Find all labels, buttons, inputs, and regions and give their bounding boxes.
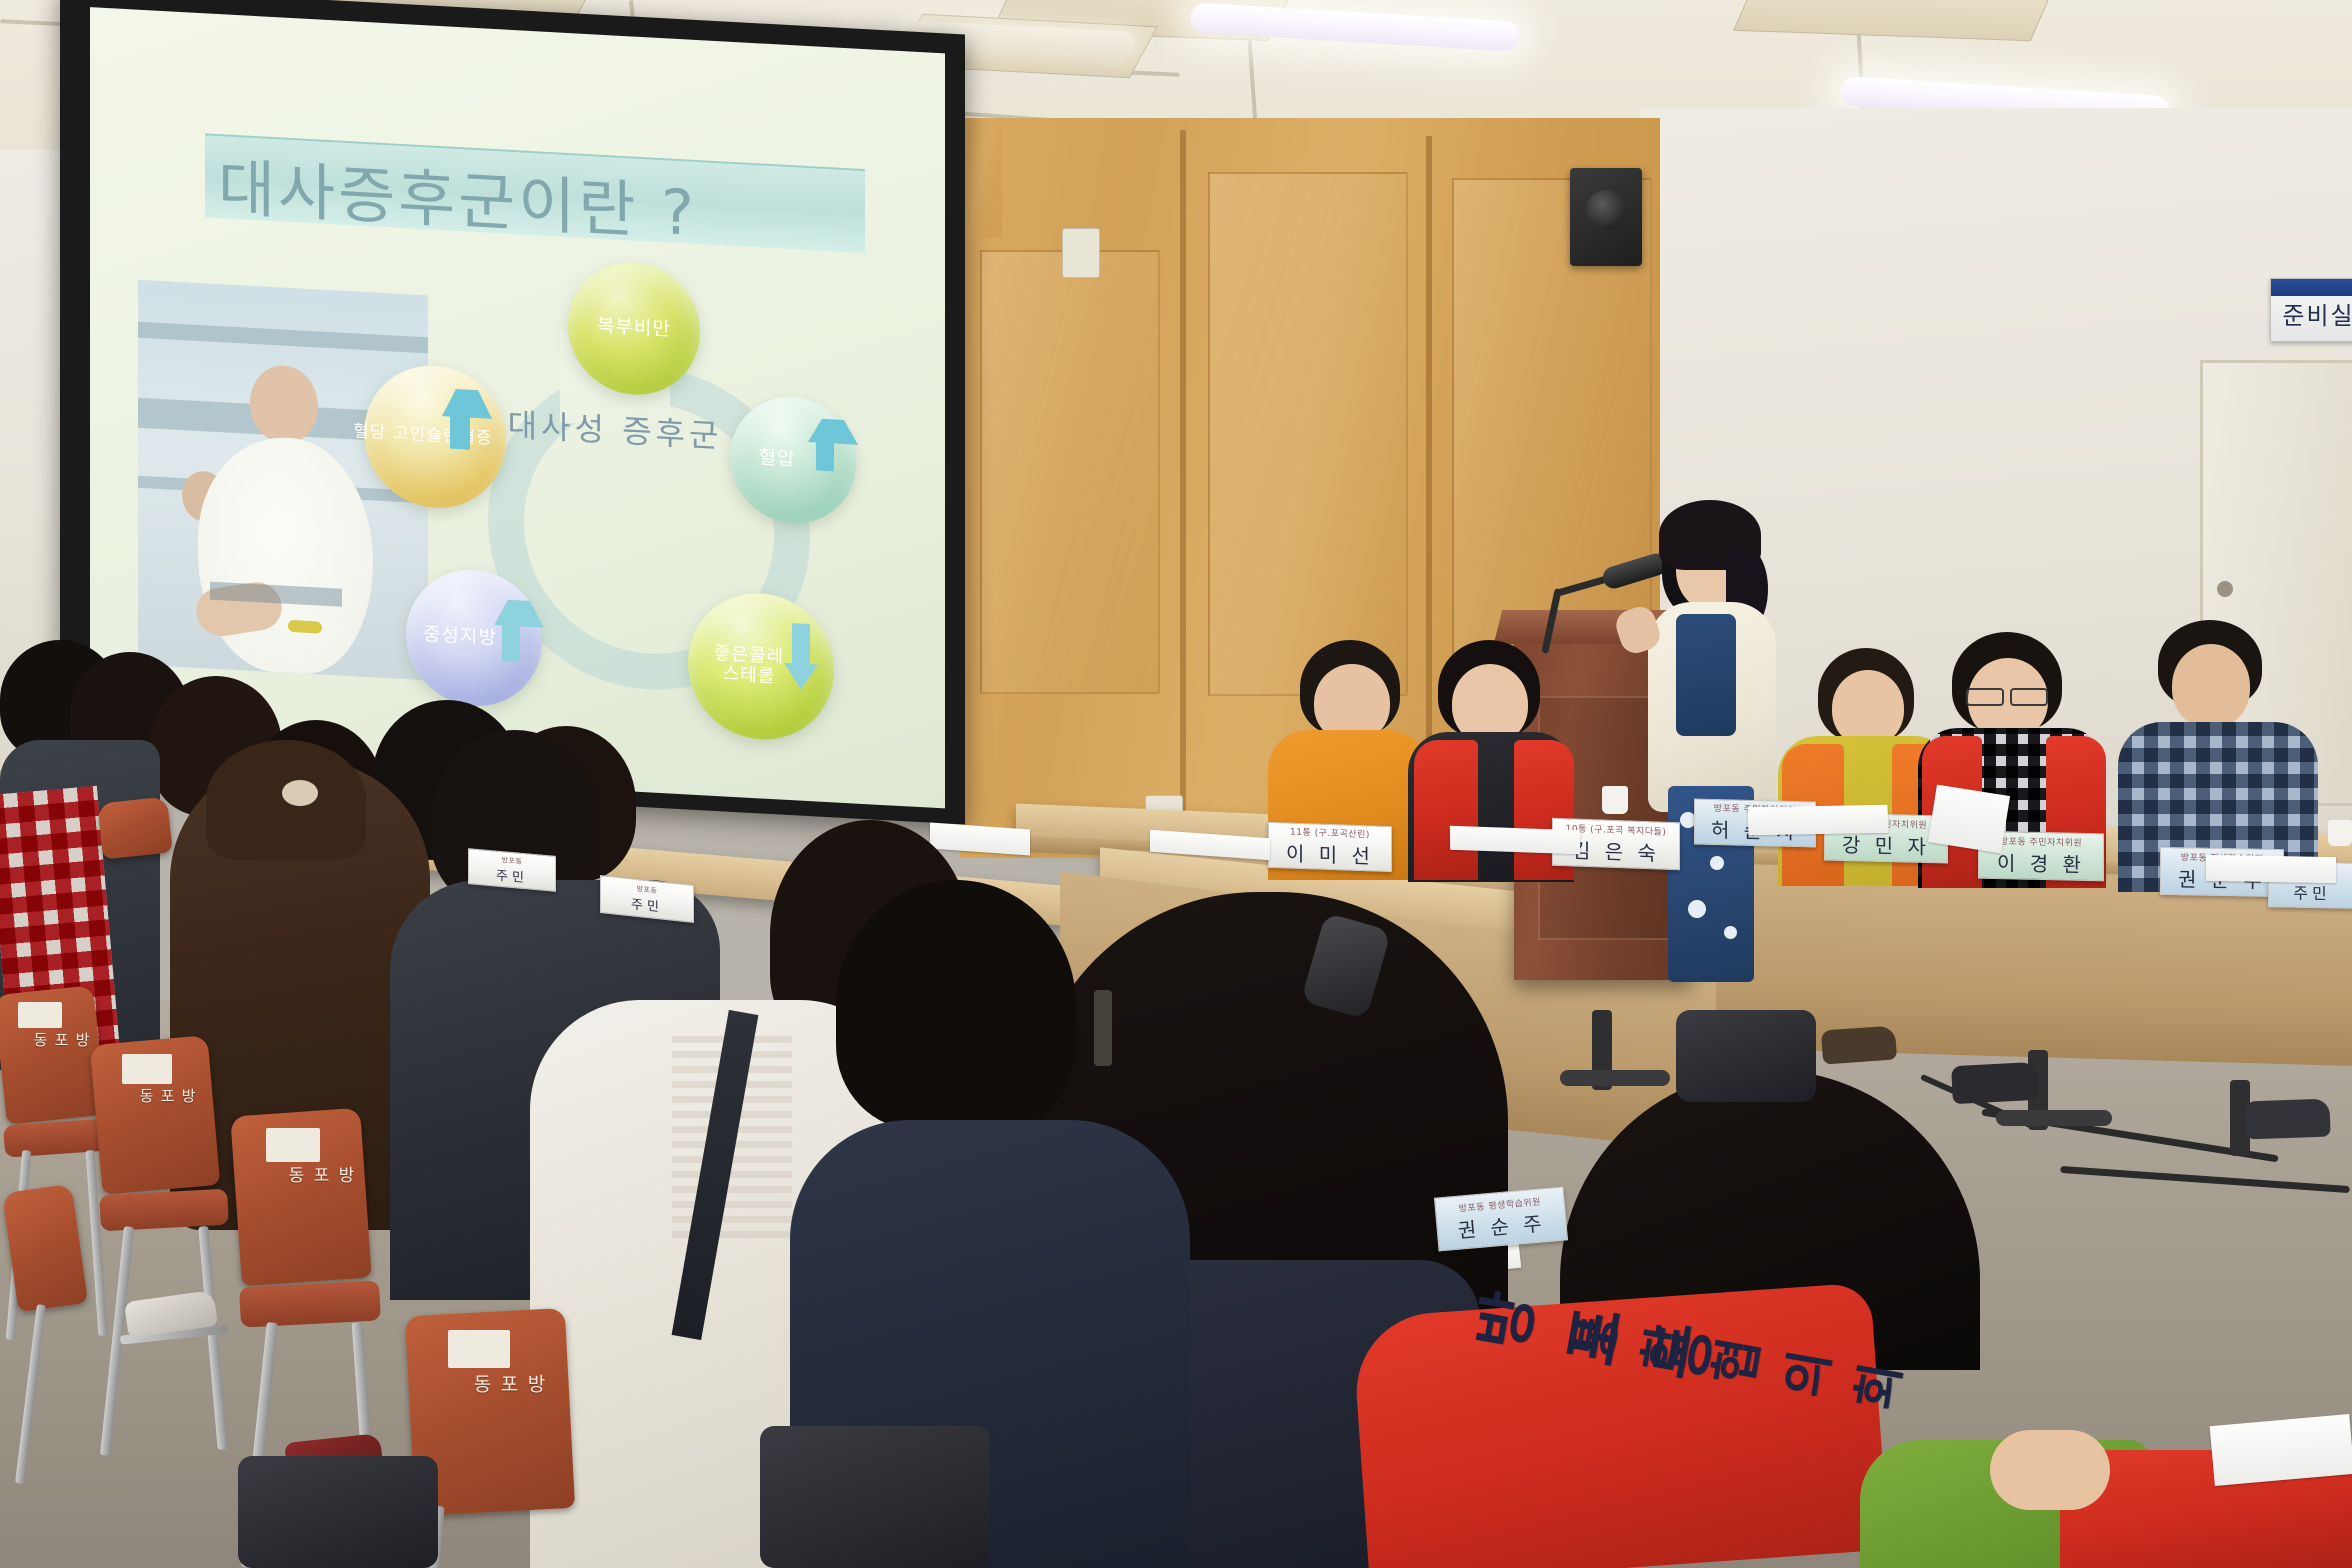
hand <box>1990 1430 2110 1510</box>
nameplate-lee-miseon: 11통 (구.포곡산린) 이 미 선 <box>1268 822 1392 872</box>
shoe <box>1821 1025 1897 1064</box>
bag <box>238 1456 438 1568</box>
paper-cup <box>1602 786 1628 814</box>
nameplate-kwon-sunju: 방포동 평생학습위원 권 순 주 <box>1434 1186 1568 1251</box>
paper-held <box>1928 785 2010 854</box>
presenter-dress-top <box>1676 614 1736 736</box>
slide-title: 대사증후군이란 ? <box>218 137 868 262</box>
wall-speaker <box>1570 168 1642 266</box>
glasses-icon <box>2010 688 2048 706</box>
arrow-up-shaft <box>502 623 520 662</box>
bubble-label: 혈당 고인슐린혈증 <box>353 423 493 450</box>
hair-tie <box>282 780 318 806</box>
bubble-label: 중성지방 <box>423 625 497 650</box>
bag-under-table <box>1676 1010 1816 1102</box>
room-sign: 준비실 <box>2270 278 2352 342</box>
wood-seam <box>1426 136 1432 836</box>
paper-document <box>2206 855 2336 883</box>
table-foot <box>1996 1110 2112 1126</box>
room-sign-strip <box>2271 279 2352 296</box>
slide-photo-person-body <box>198 433 373 677</box>
bag <box>760 1426 990 1568</box>
paper-document <box>1450 826 1580 855</box>
paper-foreground-right <box>2210 1414 2352 1486</box>
bubble-label: 혈압 <box>759 448 796 471</box>
shoe <box>1951 1062 2039 1104</box>
arrow-up-shaft <box>450 415 470 450</box>
bubble-label: 좋은콜레 스테롤 <box>714 644 784 688</box>
wood-wall-trim <box>960 118 1002 238</box>
table-foot <box>1560 1070 1670 1086</box>
bubble-label: 복부비만 <box>597 316 671 341</box>
arrow-up-shaft <box>816 440 834 471</box>
wall-outlet <box>1062 228 1100 278</box>
paper-document <box>1748 805 1889 835</box>
arrow-down-icon <box>784 663 818 691</box>
door-knob-icon[interactable] <box>2217 581 2233 597</box>
arrow-down-shaft <box>792 623 810 664</box>
shoe <box>2245 1099 2330 1140</box>
wood-door-panel <box>1208 172 1408 696</box>
nameplate-audience-a: 방포동 주민 <box>468 848 556 892</box>
paper-cup <box>2328 820 2352 846</box>
room-sign-label: 준비실 <box>2271 296 2352 331</box>
wood-seam <box>1180 130 1186 840</box>
meeting-room-photo: 준비실 대사증후군이란 ? 대사성 증후군 <box>0 0 2352 1568</box>
wood-door-panel <box>980 250 1160 694</box>
glasses-icon <box>1966 688 2004 706</box>
table-leg <box>1094 990 1112 1066</box>
speaker-cone-icon <box>1586 190 1626 230</box>
